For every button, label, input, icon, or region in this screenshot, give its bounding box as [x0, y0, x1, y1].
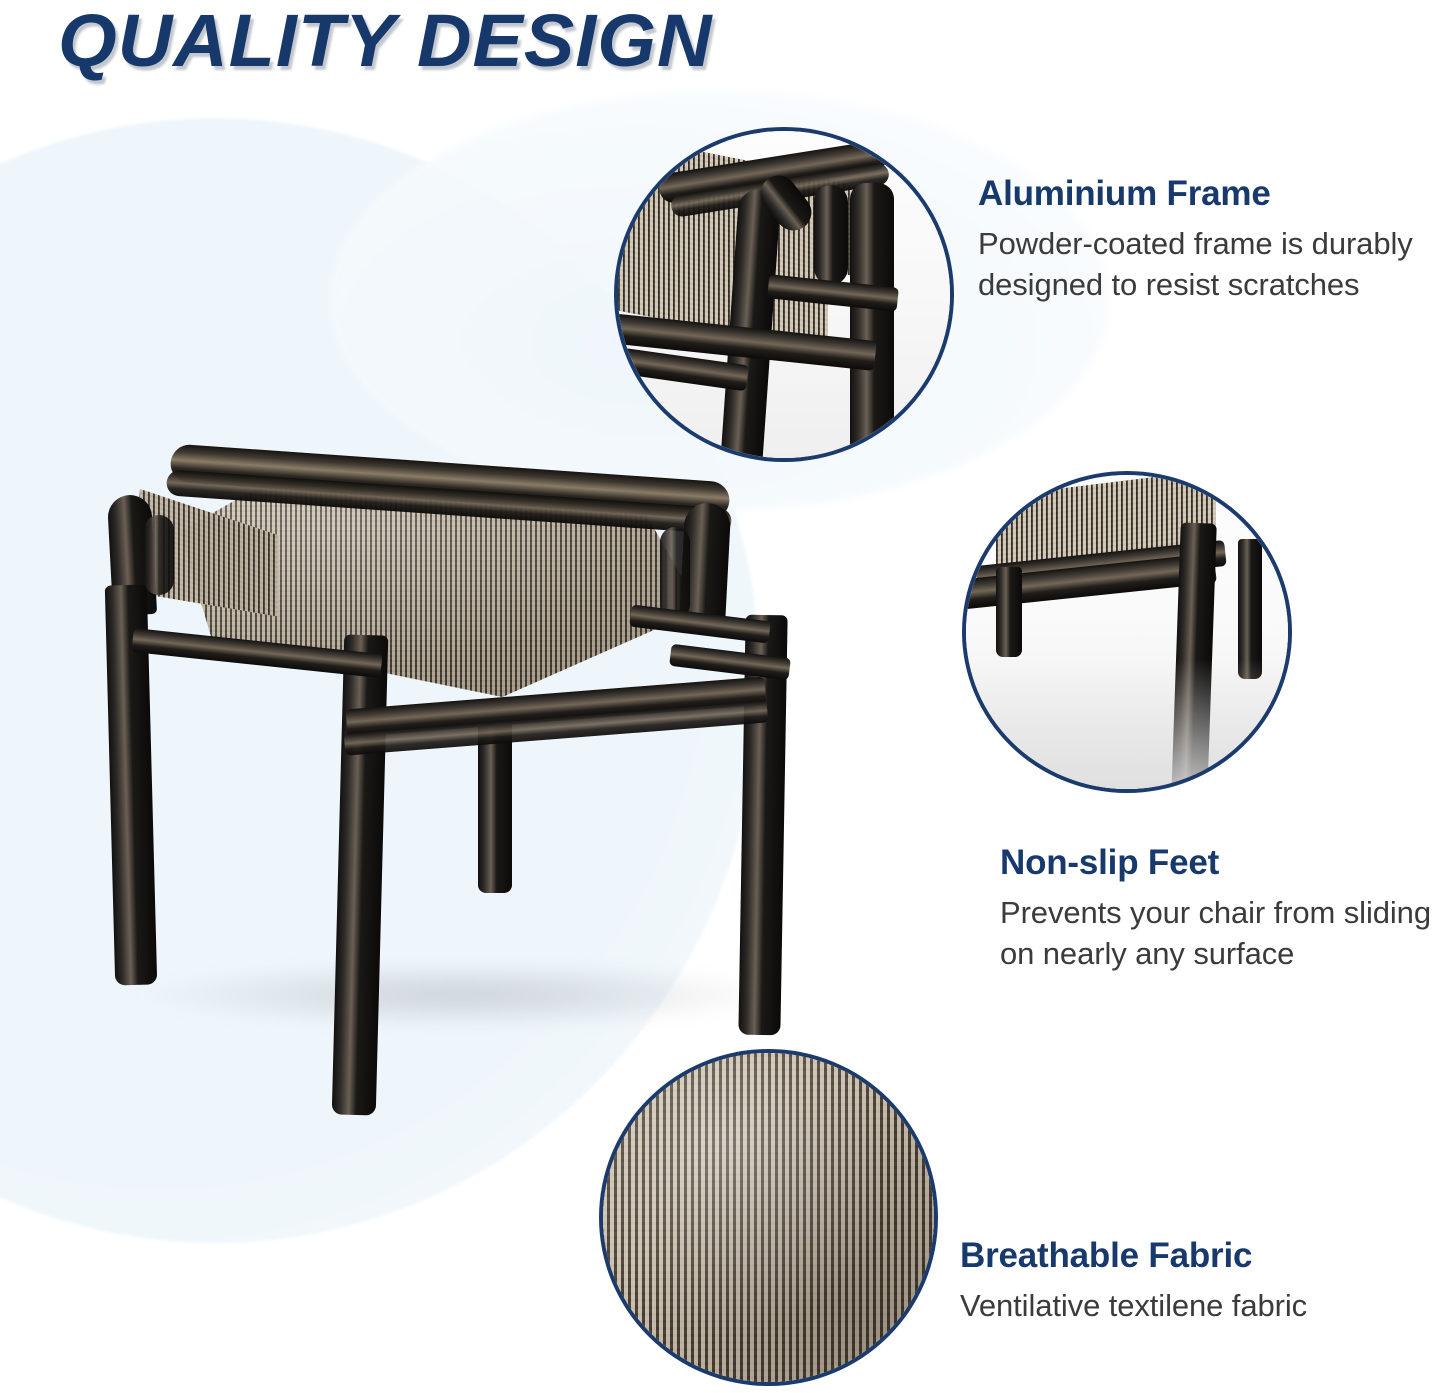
feature-block-non-slip-feet: Non-slip Feet Prevents your chair from s…	[1000, 845, 1445, 975]
textilene-weave-photo	[599, 1049, 938, 1386]
feature-heading-aluminium-frame: Aluminium Frame	[978, 176, 1445, 213]
feature-block-breathable-fabric: Breathable Fabric Ventilative textilene …	[960, 1238, 1445, 1326]
product-shadow	[130, 960, 790, 1030]
product-right-arm-inner	[660, 527, 690, 619]
feature-body-breathable-fabric: Ventilative textilene fabric	[960, 1285, 1445, 1327]
callout-circle-aluminium-frame	[614, 127, 954, 462]
feature-body-non-slip-feet: Prevents your chair from sliding on near…	[1000, 892, 1445, 975]
feature-block-aluminium-frame: Aluminium Frame Powder-coated frame is d…	[978, 176, 1445, 306]
frame-corner-photo	[618, 131, 950, 458]
infographic-canvas: QUALITY DESIGN Aluminium Frame Powder-co…	[0, 0, 1445, 1393]
feature-heading-breathable-fabric: Breathable Fabric	[960, 1238, 1445, 1275]
product-photo-ottoman	[70, 455, 860, 1095]
non-slip-feet-photo	[966, 475, 1288, 789]
feature-body-aluminium-frame: Powder-coated frame is durably designed …	[978, 223, 1445, 306]
page-title: QUALITY DESIGN	[58, 0, 713, 83]
callout-circle-non-slip-feet	[962, 471, 1292, 793]
product-left-arm-inner	[144, 515, 174, 595]
callout-circle-breathable-fabric	[599, 1049, 938, 1386]
feature-heading-non-slip-feet: Non-slip Feet	[1000, 845, 1445, 882]
